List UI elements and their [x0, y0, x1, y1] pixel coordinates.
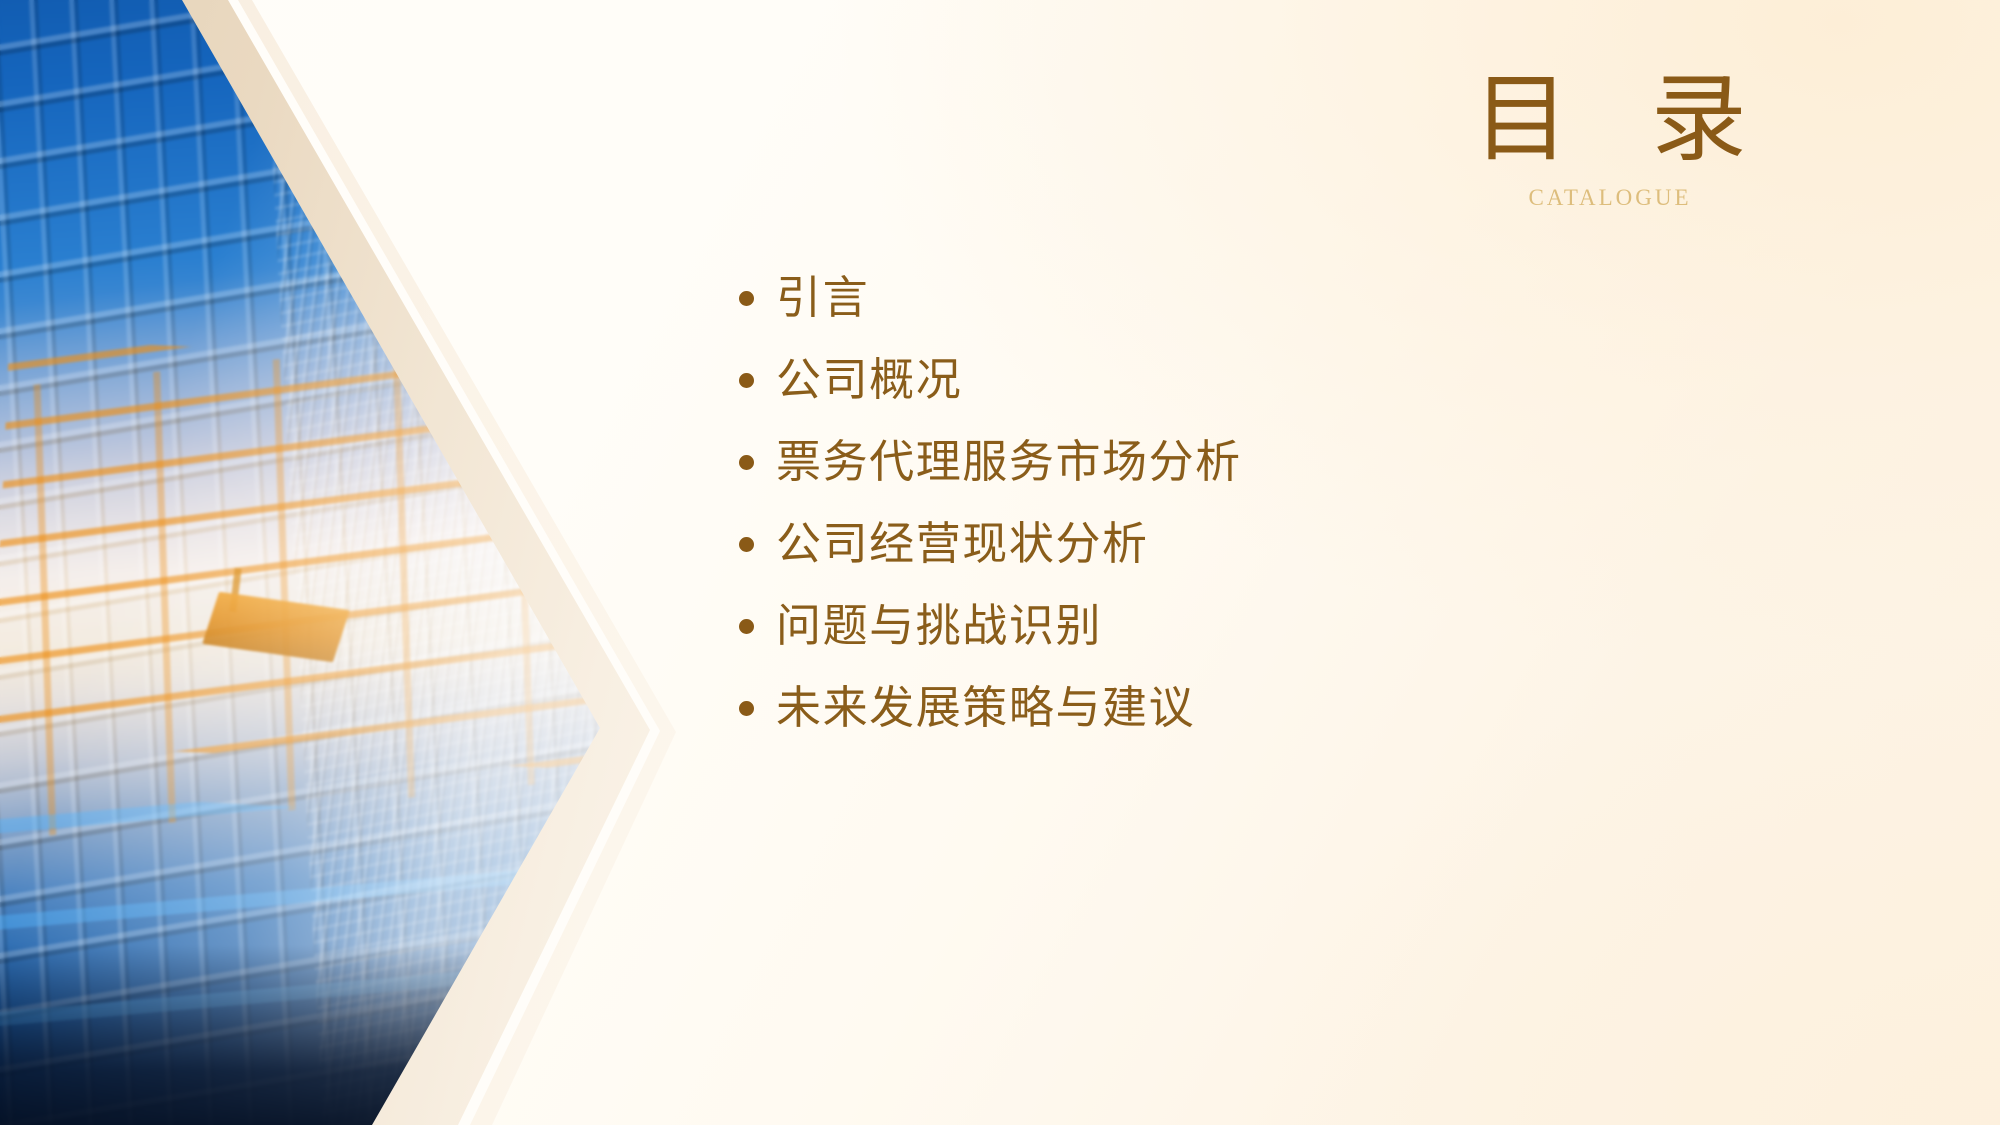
page-title: 目 录: [1330, 70, 1890, 171]
bullet-icon: [739, 291, 754, 306]
toc-item-label: 公司经营现状分析: [776, 522, 1149, 567]
bullet-icon: [739, 701, 754, 716]
page-subtitle: CATALOGUE: [1330, 185, 1890, 211]
toc-item-label: 未来发展策略与建议: [776, 686, 1195, 731]
toc-item-label: 引言: [776, 276, 869, 321]
toc-item-1[interactable]: 引言: [735, 257, 1635, 339]
bullet-icon: [739, 537, 754, 552]
toc-item-label: 票务代理服务市场分析: [776, 440, 1242, 485]
bullet-icon: [739, 455, 754, 470]
toc-item-4[interactable]: 公司经营现状分析: [735, 503, 1635, 585]
title-block: 目 录 CATALOGUE: [1330, 70, 1890, 211]
toc-item-3[interactable]: 票务代理服务市场分析: [735, 421, 1635, 503]
toc-item-2[interactable]: 公司概况: [735, 339, 1635, 421]
bullet-icon: [739, 619, 754, 634]
table-of-contents: 引言 公司概况 票务代理服务市场分析 公司经营现状分析 问题与挑战识别 未来发展…: [735, 257, 1635, 749]
toc-item-label: 公司概况: [776, 358, 962, 403]
toc-item-label: 问题与挑战识别: [776, 604, 1102, 649]
toc-item-5[interactable]: 问题与挑战识别: [735, 585, 1635, 667]
bullet-icon: [739, 373, 754, 388]
slide-canvas: 目 录 CATALOGUE 引言 公司概况 票务代理服务市场分析 公司经营现状分…: [0, 0, 2000, 1125]
toc-item-6[interactable]: 未来发展策略与建议: [735, 667, 1635, 749]
